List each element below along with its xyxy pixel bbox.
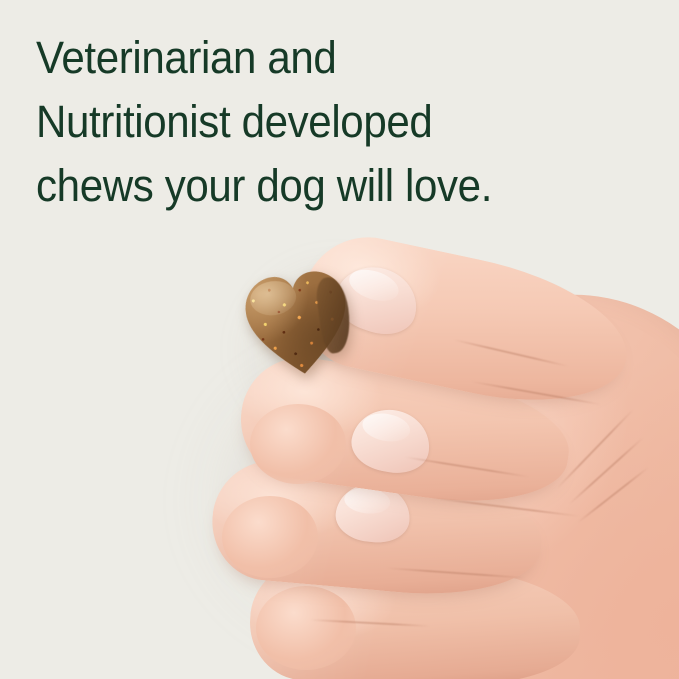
product-hero-image: Veterinarian and Nutritionist developed …: [0, 0, 679, 679]
middle-knuckle: [250, 404, 346, 484]
pinky-knuckle: [256, 586, 356, 670]
headline-line-1: Veterinarian and: [36, 26, 597, 90]
headline-line-3: chews your dog will love.: [36, 154, 597, 218]
headline-line-2: Nutritionist developed: [36, 90, 597, 154]
heart-shaped-dog-chew: [237, 265, 358, 383]
ring-knuckle: [222, 496, 318, 578]
headline: Veterinarian and Nutritionist developed …: [36, 26, 597, 218]
